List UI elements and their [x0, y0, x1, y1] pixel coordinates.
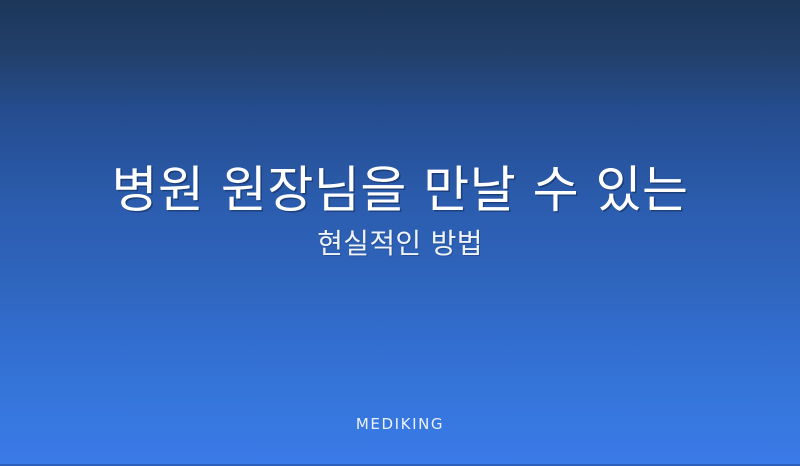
page-title: 병원 원장님을 만날 수 있는 [0, 160, 800, 221]
slide-canvas: 병원 원장님을 만날 수 있는 현실적인 방법 MEDIKING [0, 0, 800, 466]
slide-text-block: 병원 원장님을 만날 수 있는 현실적인 방법 [0, 160, 800, 261]
page-subtitle: 현실적인 방법 [0, 227, 800, 261]
brand-footer-label: MEDIKING [0, 415, 800, 433]
